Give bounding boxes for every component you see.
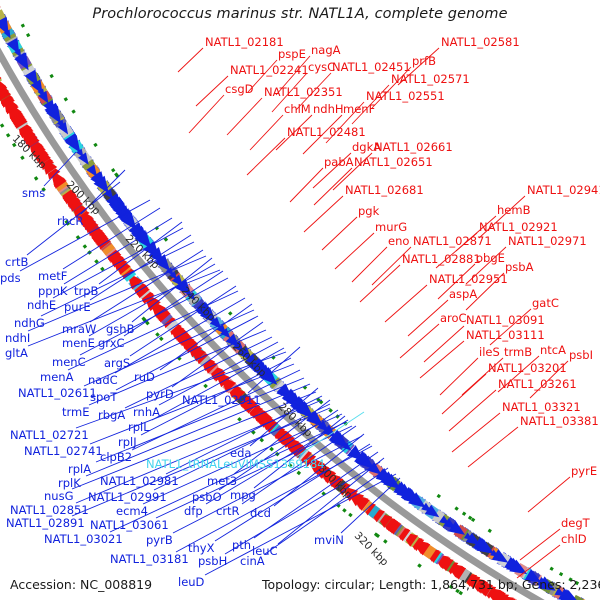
gene-leader-line [72,408,330,516]
rna-tick-marker [159,337,164,342]
rna-tick-marker [288,463,293,468]
gene-leader-line [438,264,475,299]
rna-tick-marker [20,156,25,161]
topology-text: Topology: circular; Length: 1,864,731 bp… [262,577,600,592]
gene-leader-line [466,247,506,284]
gene-leader-line [442,374,486,414]
gene-leader-line [290,168,323,202]
gene-leader-line [372,247,411,285]
gene-leader-line [352,85,389,124]
rna-tick-marker [6,133,10,137]
gene-leader-line [352,247,387,282]
gene-leader-line [227,98,262,135]
gene-leader-line [276,115,312,150]
rna-tick-marker [488,529,492,533]
gene-leader-line [76,400,322,503]
rna-tick-marker [348,513,353,518]
rna-tick-marker [269,447,274,452]
rna-tick-marker [93,143,97,147]
status-bar: Accession: NC_008819 Topology: circular;… [0,570,600,600]
rna-tick-marker [64,97,68,101]
gene-leader-line [196,76,228,106]
accession-text: Accession: NC_008819 [10,577,152,592]
gene-leader-line [479,196,525,238]
rna-tick-marker [71,109,75,113]
gene-leader-line [225,462,380,554]
gene-leader-line [490,309,531,345]
rna-tick-marker [383,539,388,544]
gene-leader-line [247,138,285,175]
gene-leader-line [400,324,439,358]
gene-leader-line [322,217,357,250]
rna-tick-marker [297,471,302,476]
rna-tick-marker [26,33,30,37]
rna-tick-marker [50,74,54,78]
gene-leader-line [178,48,203,72]
gene-leader-line [408,300,448,336]
gene-leader-line [304,196,343,232]
gene-leader-line [436,233,477,268]
leader-lines [20,48,570,578]
gene-leader-line [314,168,352,205]
gene-leader-line [372,67,411,108]
rna-tick-marker [454,506,458,510]
rna-tick-marker [342,508,347,512]
gene-leader-line [462,358,503,395]
rna-tick-marker [41,187,46,192]
rna-tick-marker [437,494,441,498]
gene-leader-line [189,95,224,133]
genome-map-canvas[interactable] [0,0,600,600]
gene-leader-line [326,102,364,143]
gene-leader-line [385,285,427,322]
rna-tick-marker [0,123,4,127]
gene-leader-line [528,477,570,512]
gene-leader-line [176,446,372,552]
rna-tick-marker [237,417,242,422]
gene-leader-line [530,361,568,398]
gene-leader-line [398,48,439,85]
rna-tick-marker [462,512,466,516]
gene-leader-line [205,474,396,575]
gene-leader-line [313,153,351,188]
rna-tick-marker [328,408,333,413]
rna-tick-marker [21,24,25,28]
gene-leader-line [452,413,500,452]
rna-tick-marker [203,384,208,389]
gene-leader-line [449,390,496,431]
rna-tick-marker [83,244,88,249]
gene-leader-line [440,358,478,395]
rna-tick-marker [111,168,115,172]
gene-leader-line [335,233,374,269]
rna-tick-marker [155,332,160,337]
gene-leader-line [303,115,342,154]
gene-leader-line [360,265,400,302]
rna-tick-marker [34,176,39,181]
rna-tick-marker [12,143,17,148]
rna-tick-marker [417,563,422,568]
gene-leader-line [520,529,560,560]
gene-leader-line [498,356,539,392]
rna-tick-marker [228,311,233,315]
gene-leader-line [333,153,372,190]
gene-leader-line [248,60,277,92]
gene-leader-line [296,73,331,110]
genome-map-viewer[interactable]: Prochlorococcus marinus str. NATL1A, com… [0,0,600,600]
